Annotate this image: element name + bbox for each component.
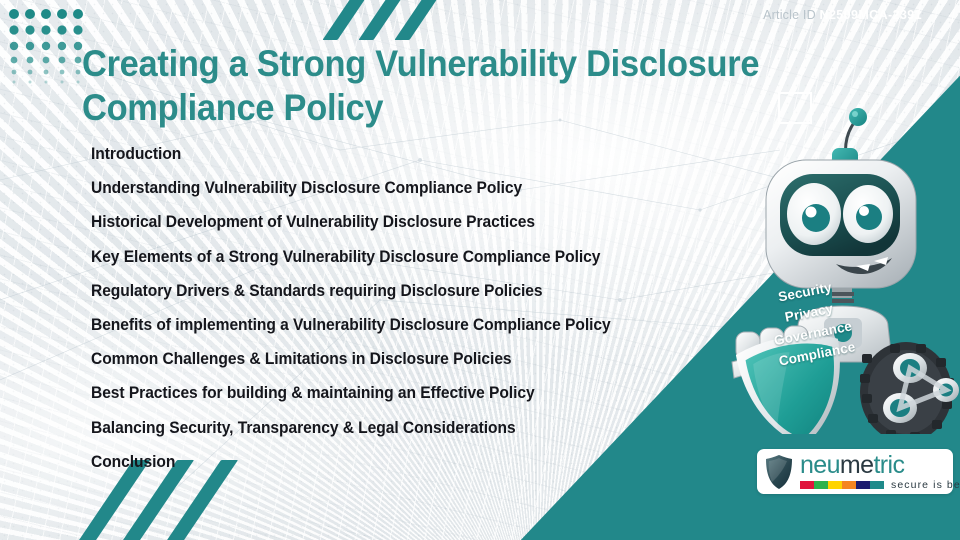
logo-word-part3: tric xyxy=(873,451,904,479)
article-id-value: N2509MCA-2391 xyxy=(820,8,922,22)
slide-canvas: Article ID N2509MCA-2391 Creating a Stro… xyxy=(0,0,960,540)
toc-item[interactable]: Conclusion xyxy=(91,445,756,479)
dot-grid-decoration xyxy=(4,4,90,95)
toc-item[interactable]: Understanding Vulnerability Disclosure C… xyxy=(91,171,756,205)
logo-wordmark: neumetric xyxy=(800,453,960,477)
toc-item[interactable]: Key Elements of a Strong Vulnerability D… xyxy=(91,240,756,274)
article-id-label: Article ID xyxy=(763,8,816,22)
logo-color-bar xyxy=(800,481,884,489)
logo-tagline: secure is better xyxy=(891,479,960,491)
toc-item[interactable]: Historical Development of Vulnerability … xyxy=(91,205,756,239)
toc-item[interactable]: Introduction xyxy=(91,137,756,171)
logo-word-part1: neu xyxy=(800,451,840,479)
logo-text-block: neumetric secure is better xyxy=(800,453,960,491)
toc-item[interactable]: Best Practices for building & maintainin… xyxy=(91,376,756,410)
article-id: Article ID N2509MCA-2391 xyxy=(763,8,922,22)
toc-item[interactable]: Common Challenges & Limitations in Discl… xyxy=(91,342,756,376)
logo-shield-icon xyxy=(764,454,794,490)
diagonal-stripes-top xyxy=(330,0,470,36)
toc-item[interactable]: Benefits of implementing a Vulnerability… xyxy=(91,308,756,342)
toc-item[interactable]: Regulatory Drivers & Standards requiring… xyxy=(91,274,756,308)
logo-subline: secure is better xyxy=(800,479,960,491)
page-title: Creating a Strong Vulnerability Disclosu… xyxy=(82,42,789,130)
neumetric-logo[interactable]: neumetric secure is better xyxy=(757,449,953,494)
logo-word-part2: me xyxy=(840,451,874,479)
toc-item[interactable]: Balancing Security, Transparency & Legal… xyxy=(91,411,756,445)
robot-mascot-icon xyxy=(728,104,960,434)
table-of-contents: Introduction Understanding Vulnerability… xyxy=(91,137,791,479)
